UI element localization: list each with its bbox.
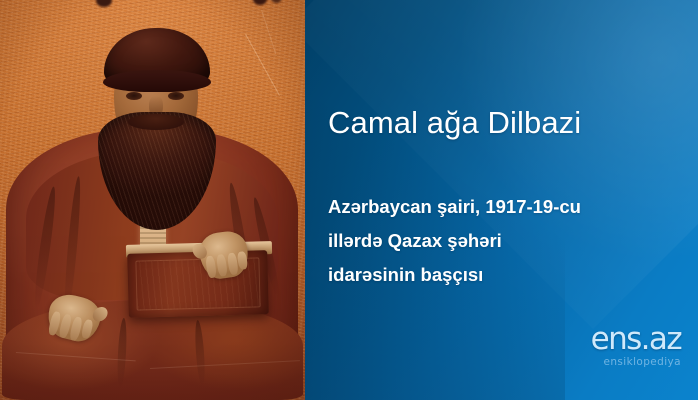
logo-wordmark: ens.az xyxy=(559,324,681,354)
figure-mustache xyxy=(128,114,184,130)
figure-eye xyxy=(126,92,142,100)
hand-finger xyxy=(237,251,248,270)
ens-az-logo[interactable]: ens.az ensiklopediya xyxy=(559,324,681,376)
page-subtitle: Azərbaycan şairi, 1917-19-cu illərdə Qaz… xyxy=(328,190,673,292)
info-card: Camal ağa Dilbazi Azərbaycan şairi, 1917… xyxy=(0,0,698,400)
hand-finger xyxy=(216,254,228,277)
figure-eye xyxy=(168,92,184,100)
text-panel: Camal ağa Dilbazi Azərbaycan şairi, 1917… xyxy=(305,0,698,400)
subtitle-line: idarəsinin başçısı xyxy=(328,258,673,292)
subtitle-line: Azərbaycan şairi, 1917-19-cu xyxy=(328,190,673,224)
page-title: Camal ağa Dilbazi xyxy=(328,103,688,143)
portrait-photo xyxy=(0,0,305,400)
logo-tagline: ensiklopediya xyxy=(559,355,681,369)
held-book xyxy=(127,250,269,318)
figure-hat-brim xyxy=(103,70,211,92)
subtitle-line: illərdə Qazax şəhəri xyxy=(328,224,673,258)
